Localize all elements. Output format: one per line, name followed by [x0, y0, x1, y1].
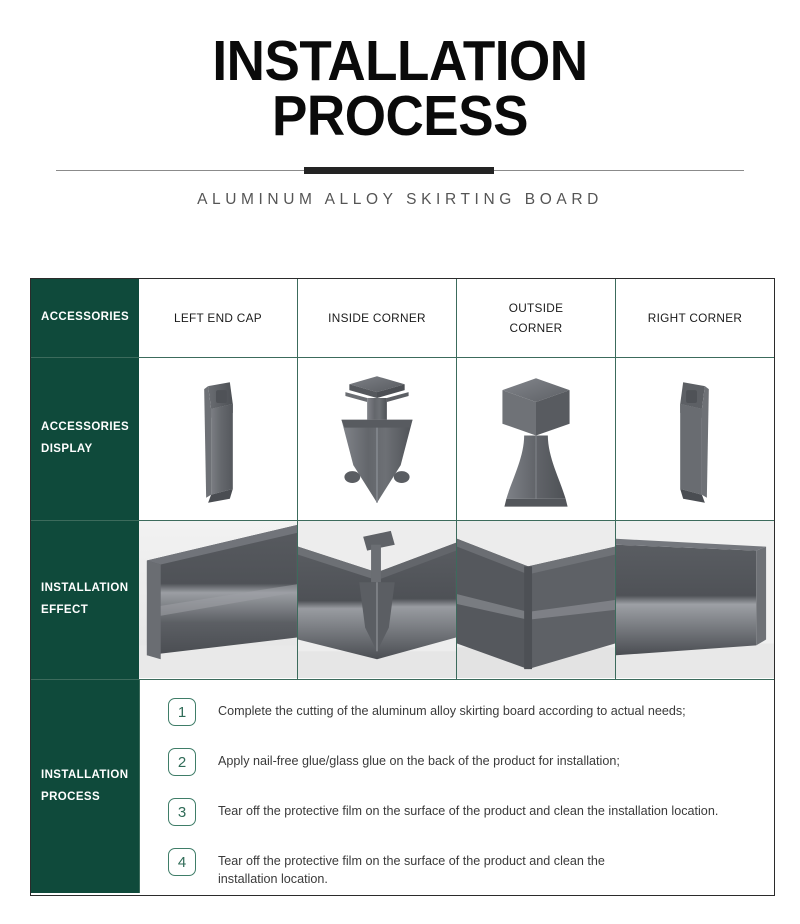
table-header-row: ACCESSORIES LEFT END CAP INSIDE CORNER O…	[31, 279, 774, 358]
column-header-label: OUTSIDE CORNER	[501, 298, 571, 338]
row-label-installation-effect: INSTALLATION EFFECT	[31, 521, 139, 679]
effect-cell-left-end-cap	[139, 521, 297, 679]
page-header: INSTALLATION PROCESS ALUMINUM ALLOY SKIR…	[0, 0, 800, 209]
inside-corner-icon	[298, 358, 456, 520]
row-label-text: ACCESSORIES DISPLAY	[41, 417, 139, 461]
step-number-badge: 3	[168, 798, 196, 826]
column-header-label: RIGHT CORNER	[648, 308, 742, 328]
page-title: INSTALLATION PROCESS	[28, 34, 772, 145]
row-label-installation-process: INSTALLATION PROCESS	[31, 680, 139, 893]
row-label-text: ACCESSORIES	[41, 307, 139, 329]
row-label-text: INSTALLATION EFFECT	[41, 578, 139, 622]
header-cell-outside-corner: OUTSIDE CORNER	[456, 279, 615, 357]
step-number-badge: 2	[168, 748, 196, 776]
product-cell-inside-corner	[297, 358, 456, 520]
header-cell-inside-corner: INSIDE CORNER	[297, 279, 456, 357]
divider-accent-bar	[304, 167, 494, 174]
installation-process-page: INSTALLATION PROCESS ALUMINUM ALLOY SKIR…	[0, 0, 800, 924]
column-header-label: LEFT END CAP	[174, 308, 262, 328]
step-number-badge: 1	[168, 698, 196, 726]
title-line-2: PROCESS	[28, 89, 772, 144]
header-cell-right-corner: RIGHT CORNER	[615, 279, 774, 357]
product-cell-outside-corner	[456, 358, 615, 520]
straight-board-end-photo	[139, 521, 297, 678]
outside-corner-joint-photo	[457, 521, 615, 678]
step-text: Apply nail-free glue/glass glue on the b…	[218, 746, 620, 770]
outside-corner-icon	[457, 358, 615, 520]
installation-effect-row: INSTALLATION EFFECT	[31, 521, 774, 680]
step-text: Tear off the protective film on the surf…	[218, 796, 718, 820]
effect-cell-inside-corner	[297, 521, 456, 679]
product-cell-left-end-cap	[139, 358, 297, 520]
title-line-1: INSTALLATION	[28, 34, 772, 89]
inside-corner-joint-photo	[298, 521, 456, 678]
column-header-label: INSIDE CORNER	[328, 308, 426, 328]
accessories-table: ACCESSORIES LEFT END CAP INSIDE CORNER O…	[30, 278, 775, 896]
effect-cell-outside-corner	[456, 521, 615, 679]
list-item: 4 Tear off the protective film on the su…	[168, 846, 760, 890]
accessories-display-row: ACCESSORIES DISPLAY	[31, 358, 774, 521]
list-item: 2 Apply nail-free glue/glass glue on the…	[168, 746, 760, 790]
process-steps-list: 1 Complete the cutting of the aluminum a…	[139, 680, 774, 893]
product-cell-right-corner	[615, 358, 774, 520]
page-subtitle: ALUMINUM ALLOY SKIRTING BOARD	[0, 191, 800, 209]
row-label-text: INSTALLATION PROCESS	[41, 765, 139, 809]
right-end-cap-icon	[616, 358, 774, 520]
straight-board-run-photo	[616, 521, 774, 678]
effect-cell-right-corner	[615, 521, 774, 679]
installation-process-row: INSTALLATION PROCESS 1 Complete the cutt…	[31, 680, 774, 893]
step-text: Tear off the protective film on the surf…	[218, 846, 638, 889]
step-number-badge: 4	[168, 848, 196, 876]
left-end-cap-icon	[139, 358, 297, 520]
list-item: 3 Tear off the protective film on the su…	[168, 796, 760, 840]
header-cell-left-end-cap: LEFT END CAP	[139, 279, 297, 357]
title-divider	[56, 165, 744, 177]
list-item: 1 Complete the cutting of the aluminum a…	[168, 696, 760, 740]
row-label-accessories: ACCESSORIES	[31, 279, 139, 357]
step-text: Complete the cutting of the aluminum all…	[218, 696, 686, 720]
row-label-accessories-display: ACCESSORIES DISPLAY	[31, 358, 139, 520]
